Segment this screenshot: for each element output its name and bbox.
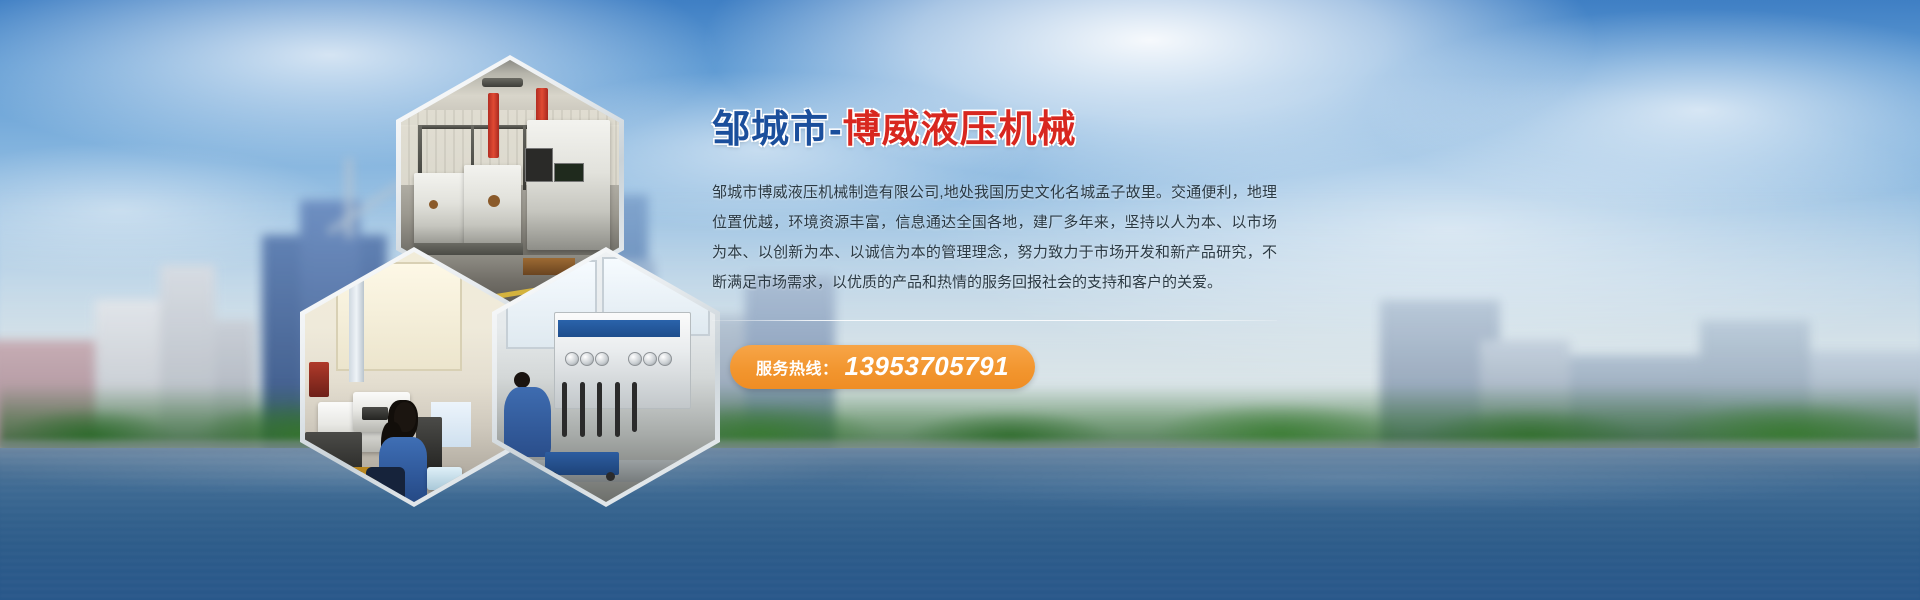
hotline-phone-number: 13953705791 — [845, 351, 1010, 382]
hotline-label: 服务热线： — [756, 355, 839, 379]
banner-text-content: 邹城市-博威液压机械 邹城市博威液压机械制造有限公司,地处我国历史文化名城孟子故… — [712, 110, 1292, 389]
page-title: 邹城市-博威液压机械 — [712, 110, 1292, 152]
hexagon-photo-cluster — [300, 55, 700, 445]
page-title-city: 邹城市- — [712, 109, 843, 151]
company-hero-banner: 邹城市-博威液压机械 邹城市博威液压机械制造有限公司,地处我国历史文化名城孟子故… — [0, 0, 1920, 600]
company-description: 邹城市博威液压机械制造有限公司,地处我国历史文化名城孟子故里。交通便利，地理位置… — [712, 178, 1277, 298]
river-water-background — [0, 448, 1920, 600]
page-title-company: 博威液压机械 — [843, 109, 1077, 151]
content-divider — [712, 320, 1277, 321]
hotline-button[interactable]: 服务热线： 13953705791 — [730, 345, 1035, 389]
